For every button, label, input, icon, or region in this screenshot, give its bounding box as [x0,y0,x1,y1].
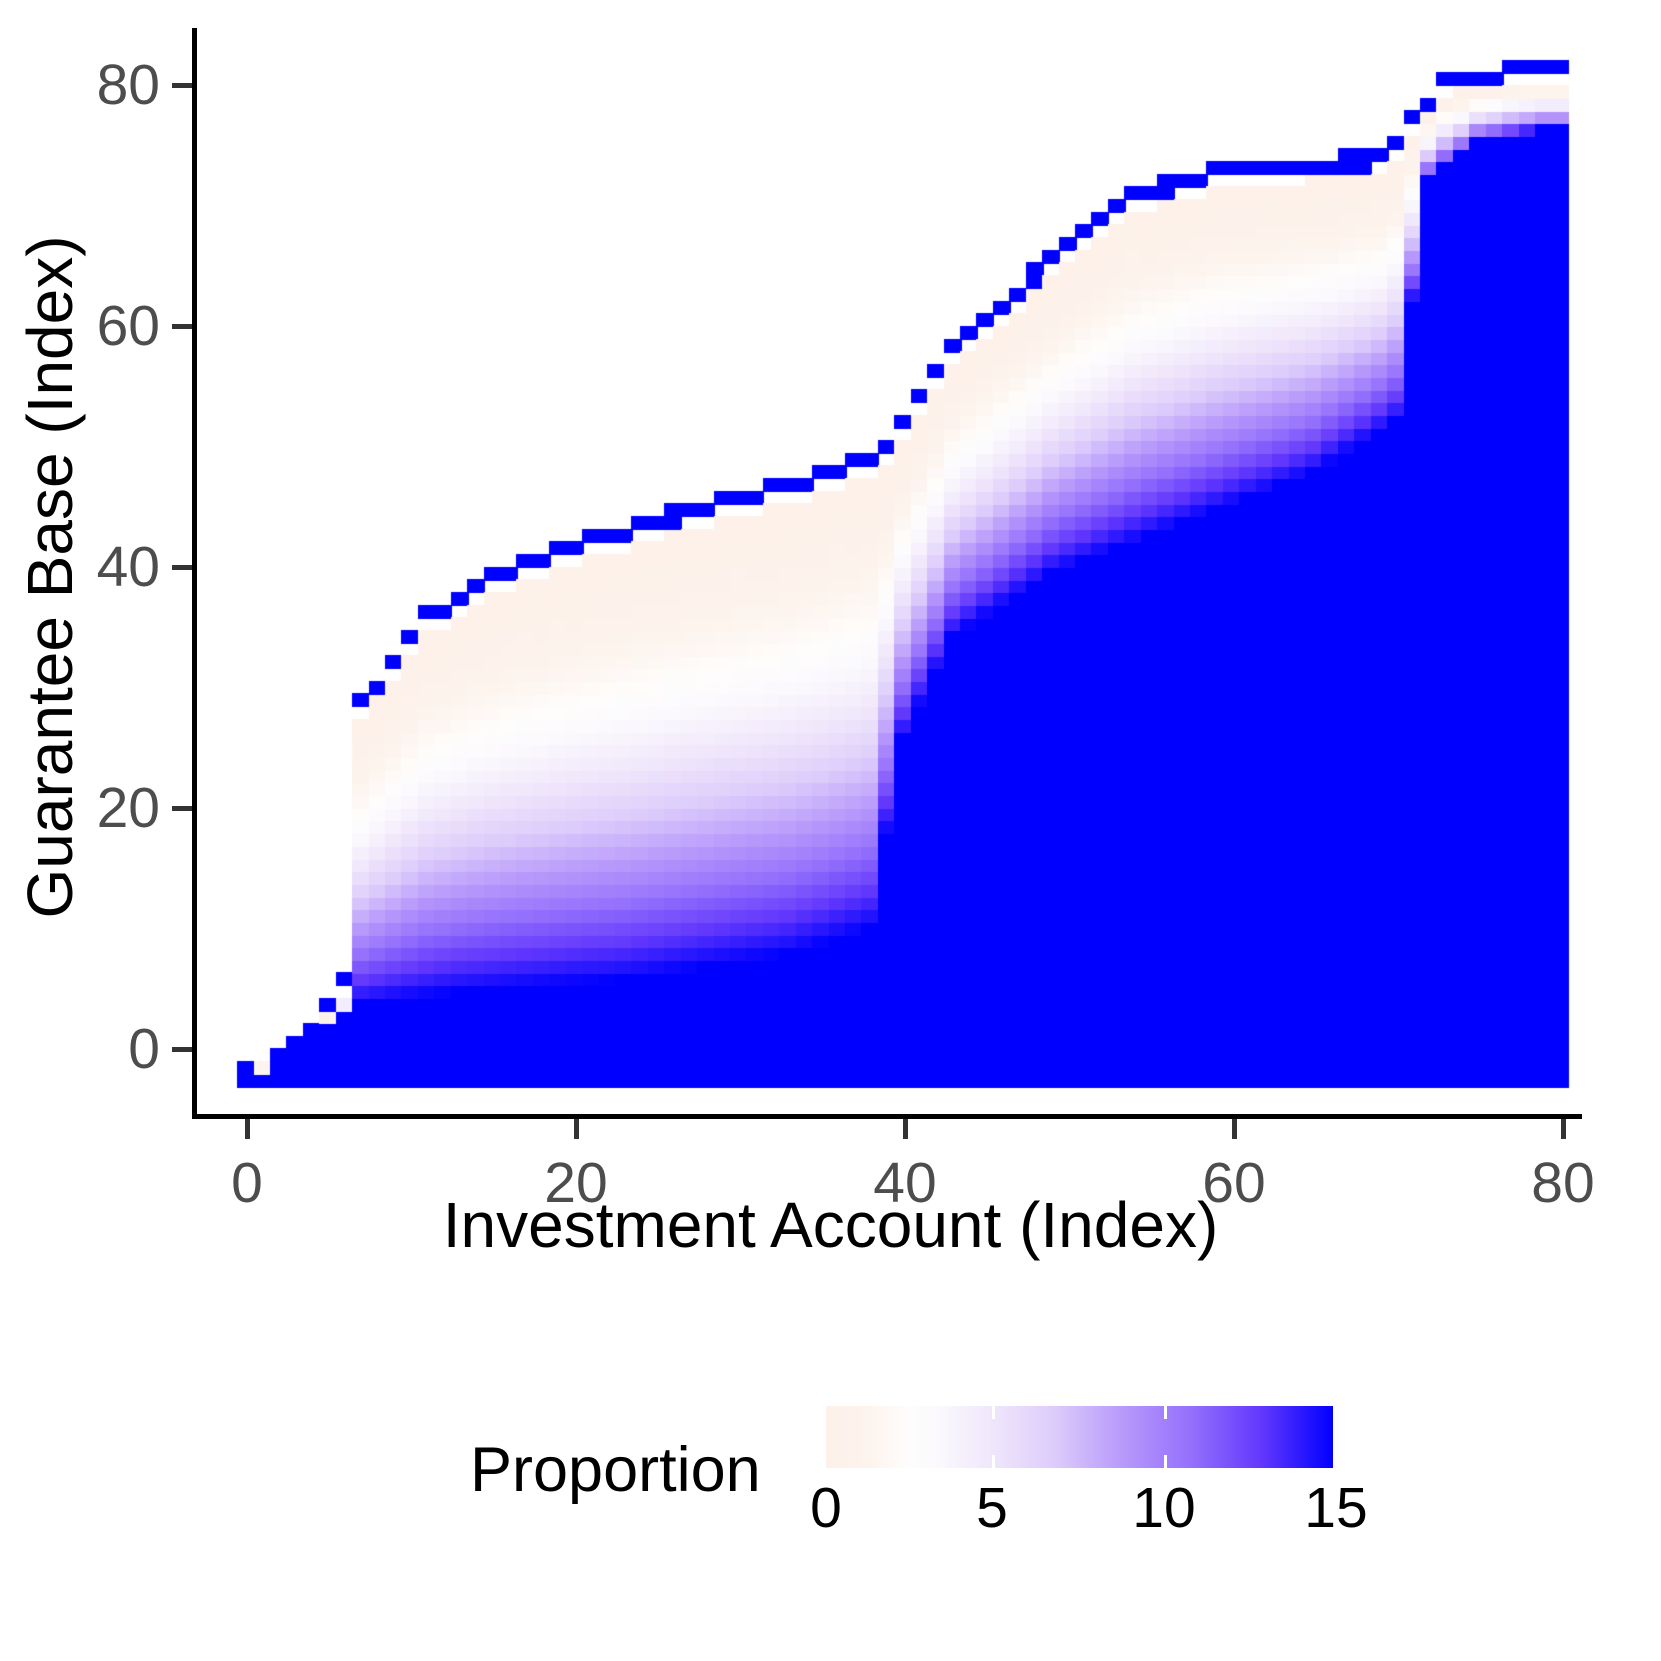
colorbar-gradient [826,1406,1333,1468]
x-axis-title: Investment Account (Index) [0,1188,1661,1262]
x-tick-80 [1561,1119,1566,1139]
y-tick-20 [172,806,192,811]
x-tick-0 [245,1119,250,1139]
colorbar-tick-10-top [1164,1406,1167,1419]
colorbar[interactable] [826,1406,1333,1468]
colorbar-tick-5-top [992,1406,995,1419]
y-tick-60 [172,324,192,329]
x-tick-20 [574,1119,579,1139]
colorbar-ticklabel-15: 15 [1246,1480,1426,1537]
x-tick-60 [1232,1119,1237,1139]
legend: Proportion 0 5 10 15 [0,1380,1661,1580]
colorbar-tick-10-bottom [1164,1455,1167,1468]
y-axis-title: Guarantee Base (Index) [13,27,87,1127]
y-tick-80 [172,83,192,88]
plot-panel [196,28,1576,1118]
heatmap-canvas [196,28,1576,1118]
y-tick-40 [172,565,192,570]
colorbar-ticklabel-10: 10 [1074,1480,1254,1537]
y-tick-0 [172,1047,192,1052]
colorbar-ticklabel-0: 0 [736,1480,916,1537]
colorbar-tick-5-bottom [992,1455,995,1468]
y-axis-line [192,28,197,1118]
x-axis-line [192,1114,1582,1119]
x-tick-40 [903,1119,908,1139]
chart-root: 80 60 40 20 0 0 20 40 60 80 Investment A… [0,0,1661,1661]
legend-title: Proportion [470,1434,780,1506]
colorbar-ticklabel-5: 5 [902,1480,1082,1537]
